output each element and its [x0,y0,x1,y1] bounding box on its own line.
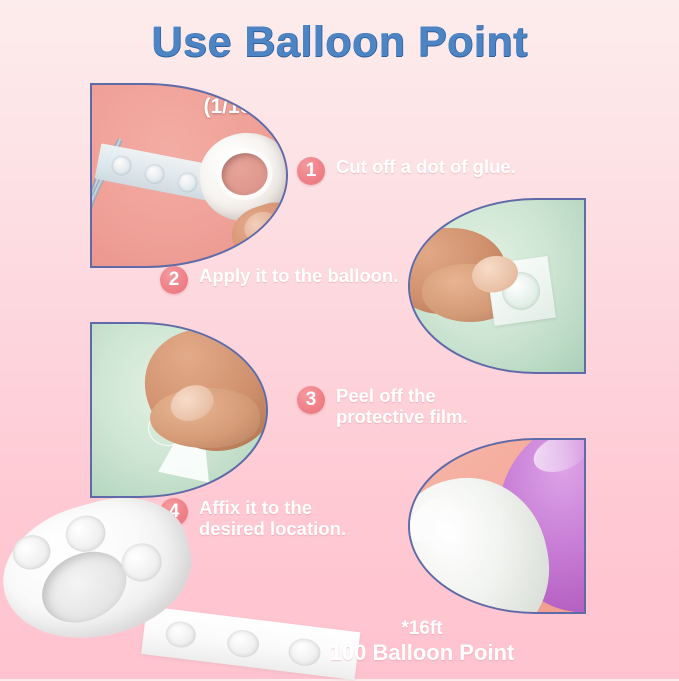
infographic-canvas: Use Balloon Point (1/100) [0,0,679,679]
fingernail [239,206,282,247]
step-2-number: 2 [160,266,188,294]
step-1-number: 1 [297,157,325,185]
step-2: 2 Apply it to the balloon. [160,266,398,294]
glue-dot [9,531,55,574]
glue-dot [164,620,197,649]
product-footer-note: *16ft 100 Balloon Point [272,618,572,666]
quantity-badge: (1/100) [203,95,270,119]
photo-peel-film [92,324,266,496]
panel-affix-balloons-photo [408,438,586,614]
product-length: *16ft [272,618,572,640]
page-title: Use Balloon Point [0,18,679,67]
step-3-number: 3 [297,386,325,414]
step-2-caption: Apply it to the balloon. [199,266,398,287]
photo-apply-dot-to-balloon [410,200,584,372]
glue-dot [143,162,166,185]
step-1: 1 Cut off a dot of glue. [297,157,516,185]
glue-dot [110,154,133,177]
step-3-caption: Peel off the protective film. [336,386,468,427]
balloon-highlight [408,488,465,550]
tape-roll-hole [219,150,270,198]
glue-dot [226,628,261,659]
glue-dot [176,171,199,194]
panel-apply-to-balloon-photo [408,198,586,374]
step-1-caption: Cut off a dot of glue. [336,157,516,178]
panel-cut-glue-dot-photo: (1/100) [90,83,288,268]
panel-peel-protective-film-photo [90,322,268,498]
glue-dot [61,511,109,557]
photo-balloons-attached [410,440,584,612]
step-3: 3 Peel off the protective film. [297,386,468,427]
product-count: 100 Balloon Point [272,640,572,666]
balloon-highlight [529,438,586,479]
